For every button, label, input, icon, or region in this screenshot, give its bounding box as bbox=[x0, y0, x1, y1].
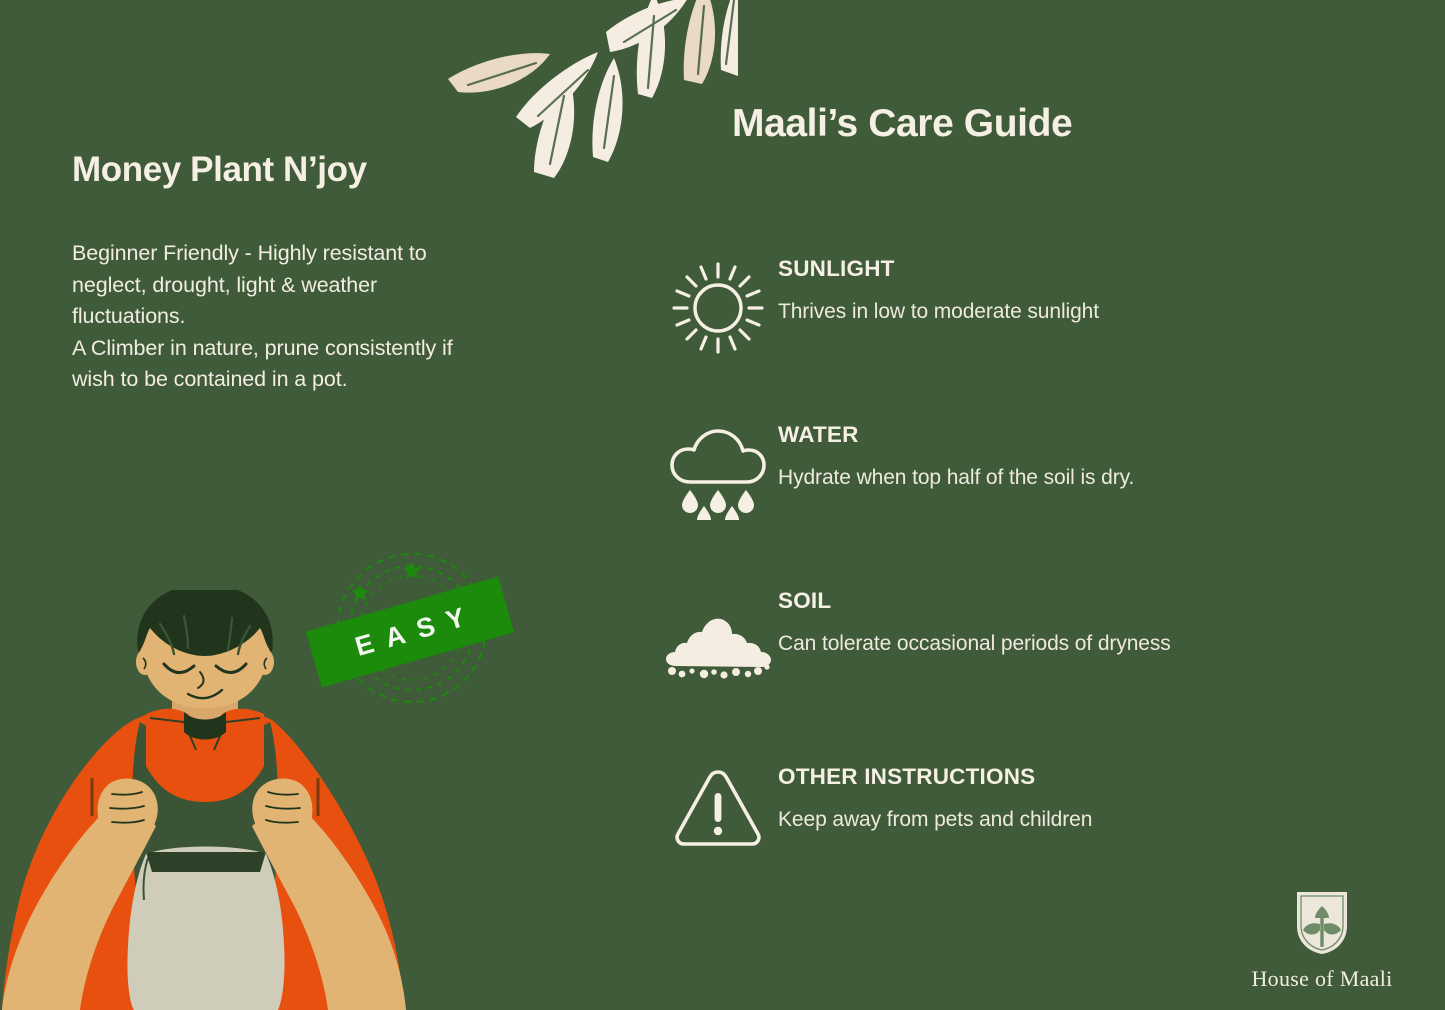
care-label: SUNLIGHT bbox=[778, 256, 1099, 282]
plant-description-line: neglect, drought, light & weather bbox=[72, 270, 572, 302]
care-value: Can tolerate occasional periods of dryne… bbox=[778, 628, 1171, 659]
care-guide-poster: Money Plant N’joy Beginner Friendly - Hi… bbox=[0, 0, 1445, 1010]
care-instruction-list: SUNLIGHT Thrives in low to moderate sunl… bbox=[658, 252, 1298, 924]
care-text-other-instructions: OTHER INSTRUCTIONS Keep away from pets a… bbox=[778, 756, 1092, 835]
rain-cloud-icon bbox=[658, 420, 778, 520]
care-row-water: WATER Hydrate when top half of the soil … bbox=[658, 420, 1298, 588]
care-row-soil: SOIL Can tolerate occasional periods of … bbox=[658, 588, 1298, 756]
care-text-soil: SOIL Can tolerate occasional periods of … bbox=[778, 588, 1171, 659]
care-value: Hydrate when top half of the soil is dry… bbox=[778, 462, 1134, 493]
shield-spade-leaves-icon bbox=[1293, 888, 1351, 956]
plant-description-line: wish to be contained in a pot. bbox=[72, 364, 572, 396]
plant-description-line: A Climber in nature, prune consistently … bbox=[72, 333, 572, 365]
botanical-branch-decoration bbox=[438, 0, 738, 182]
plant-description-line: fluctuations. bbox=[72, 301, 572, 333]
care-label: WATER bbox=[778, 422, 1134, 448]
soil-mound-icon bbox=[658, 588, 778, 684]
care-value: Keep away from pets and children bbox=[778, 804, 1092, 835]
gardener-illustration bbox=[0, 590, 418, 1010]
care-row-sunlight: SUNLIGHT Thrives in low to moderate sunl… bbox=[658, 252, 1298, 420]
warning-triangle-icon bbox=[658, 756, 778, 850]
brand-logo: House of Maali bbox=[1227, 888, 1417, 992]
sun-icon bbox=[658, 252, 778, 356]
care-label: OTHER INSTRUCTIONS bbox=[778, 764, 1092, 790]
plant-description-line: Beginner Friendly - Highly resistant to bbox=[72, 238, 572, 270]
care-row-other-instructions: OTHER INSTRUCTIONS Keep away from pets a… bbox=[658, 756, 1298, 924]
plant-description: Beginner Friendly - Highly resistant to … bbox=[72, 238, 572, 396]
care-text-water: WATER Hydrate when top half of the soil … bbox=[778, 420, 1134, 493]
brand-name: House of Maali bbox=[1251, 966, 1392, 992]
care-value: Thrives in low to moderate sunlight bbox=[778, 296, 1099, 327]
care-label: SOIL bbox=[778, 588, 1171, 614]
care-text-sunlight: SUNLIGHT Thrives in low to moderate sunl… bbox=[778, 252, 1099, 327]
plant-title: Money Plant N’joy bbox=[72, 150, 367, 190]
page-title: Maali’s Care Guide bbox=[732, 102, 1072, 146]
